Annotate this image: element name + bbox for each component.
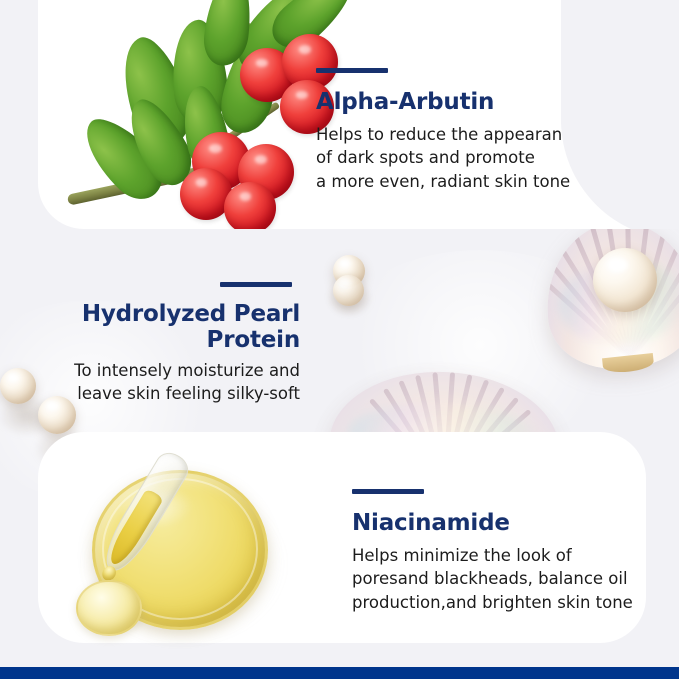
ingredient-infographic: Alpha-Arbutin Helps to reduce the appear… (0, 0, 679, 679)
section-body: Helps minimize the look of poresand blac… (352, 544, 633, 614)
text-block-alpha-arbutin: Alpha-Arbutin Helps to reduce the appear… (316, 68, 571, 193)
accent-rule (316, 68, 388, 73)
section-body: To intensely moisturize and leave skin f… (0, 359, 300, 406)
oil-droplet (76, 580, 142, 636)
section-heading: Niacinamide (352, 510, 633, 536)
section-body: Helps to reduce the appearanc of dark sp… (316, 123, 571, 193)
bottom-accent-bar (0, 667, 679, 679)
niacinamide-illustration (58, 452, 323, 652)
text-block-hydrolyzed-pearl-protein: Hydrolyzed Pearl Protein To intensely mo… (0, 282, 300, 406)
pearl-floating-top-lower (333, 275, 364, 306)
accent-rule (352, 489, 424, 494)
card-alpha-arbutin: Alpha-Arbutin Helps to reduce the appear… (38, 0, 679, 229)
section-heading: Alpha-Arbutin (316, 89, 571, 115)
text-block-niacinamide: Niacinamide Helps minimize the look of p… (352, 489, 633, 614)
pearl-in-shell (593, 248, 657, 312)
bearberry (224, 182, 276, 229)
accent-rule (220, 282, 292, 287)
section-heading: Hydrolyzed Pearl Protein (0, 301, 300, 353)
